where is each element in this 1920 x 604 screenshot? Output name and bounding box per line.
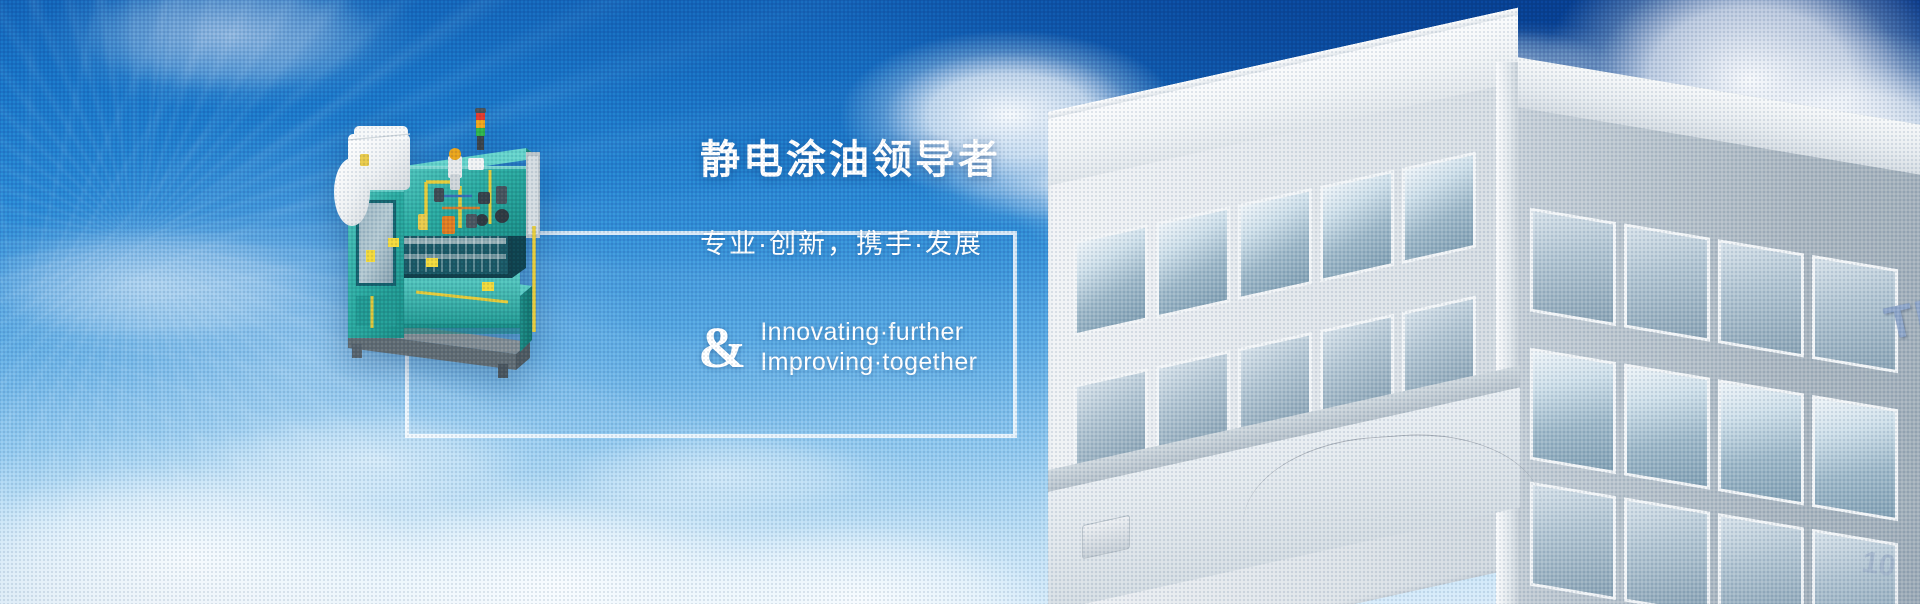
slogan-lines: Innovating·further Improving·together xyxy=(760,318,977,377)
slogan-line-1: Innovating·further xyxy=(760,318,977,348)
building-sign-number: 10 xyxy=(1860,546,1898,585)
subtitle-chinese: 专业·创新，携手·发展 xyxy=(700,222,983,261)
slogan-line-2: Improving·together xyxy=(760,348,977,378)
hero-banner: TRIOA 苏州创亚 静电涂油设备专家 4A 苏 州 创 亚 10 xyxy=(0,0,1920,604)
page-title: 静电涂油领导者 xyxy=(700,127,1001,185)
ampersand-glyph: & xyxy=(698,319,746,377)
slogan-block: & Innovating·further Improving·together xyxy=(698,318,977,377)
sky-horizon-glow xyxy=(0,0,1920,604)
